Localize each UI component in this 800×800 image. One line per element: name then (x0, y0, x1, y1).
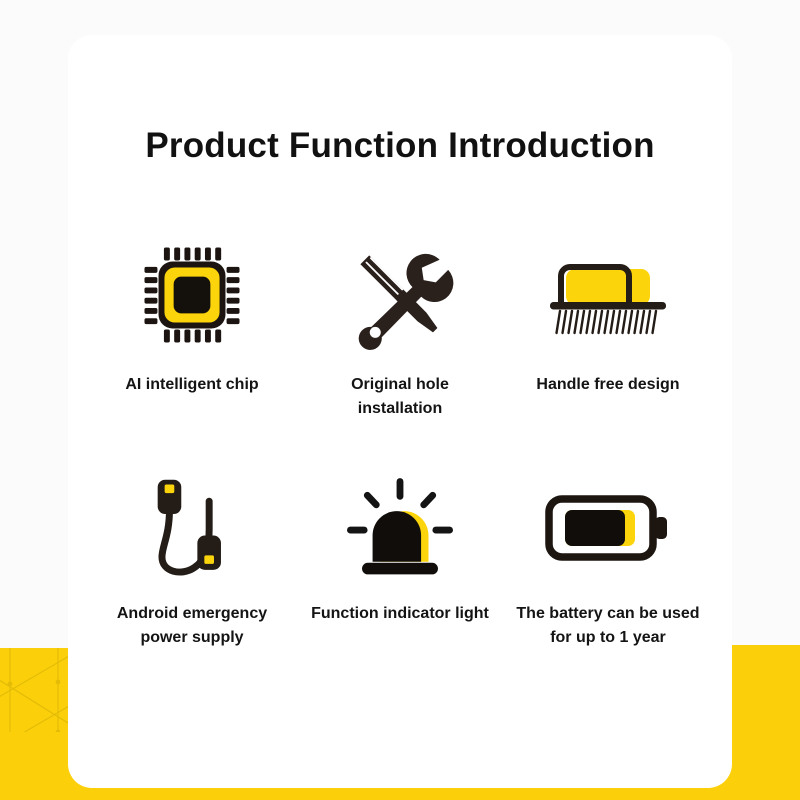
content-card: Product Function Introduction (68, 35, 732, 788)
feature-grid: AI intelligent chip (88, 235, 712, 683)
feature-label: Android emergency power supply (100, 602, 285, 650)
feature-label: Handle free design (536, 373, 679, 397)
feature-item-indicator-light: Function indicator light (296, 468, 504, 683)
feature-item-hole-installation: Original hole installation (296, 235, 504, 450)
feature-label: Function indicator light (311, 602, 489, 626)
feature-item-ai-chip: AI intelligent chip (88, 235, 296, 450)
brush-icon (544, 235, 672, 355)
feature-item-handle-free-design: Handle free design (504, 235, 712, 450)
page-title: Product Function Introduction (68, 126, 732, 166)
feature-label: The battery can be used for up to 1 year (516, 602, 701, 650)
siren-light-icon (342, 468, 458, 588)
feature-label: AI intelligent chip (125, 373, 258, 397)
wrench-screwdriver-icon (345, 235, 455, 355)
chip-icon (138, 235, 246, 355)
feature-item-emergency-power: Android emergency power supply (88, 468, 296, 683)
battery-icon (543, 468, 673, 588)
feature-label: Original hole installation (308, 373, 493, 421)
usb-cable-icon (138, 468, 246, 588)
feature-item-battery-life: The battery can be used for up to 1 year (504, 468, 712, 683)
